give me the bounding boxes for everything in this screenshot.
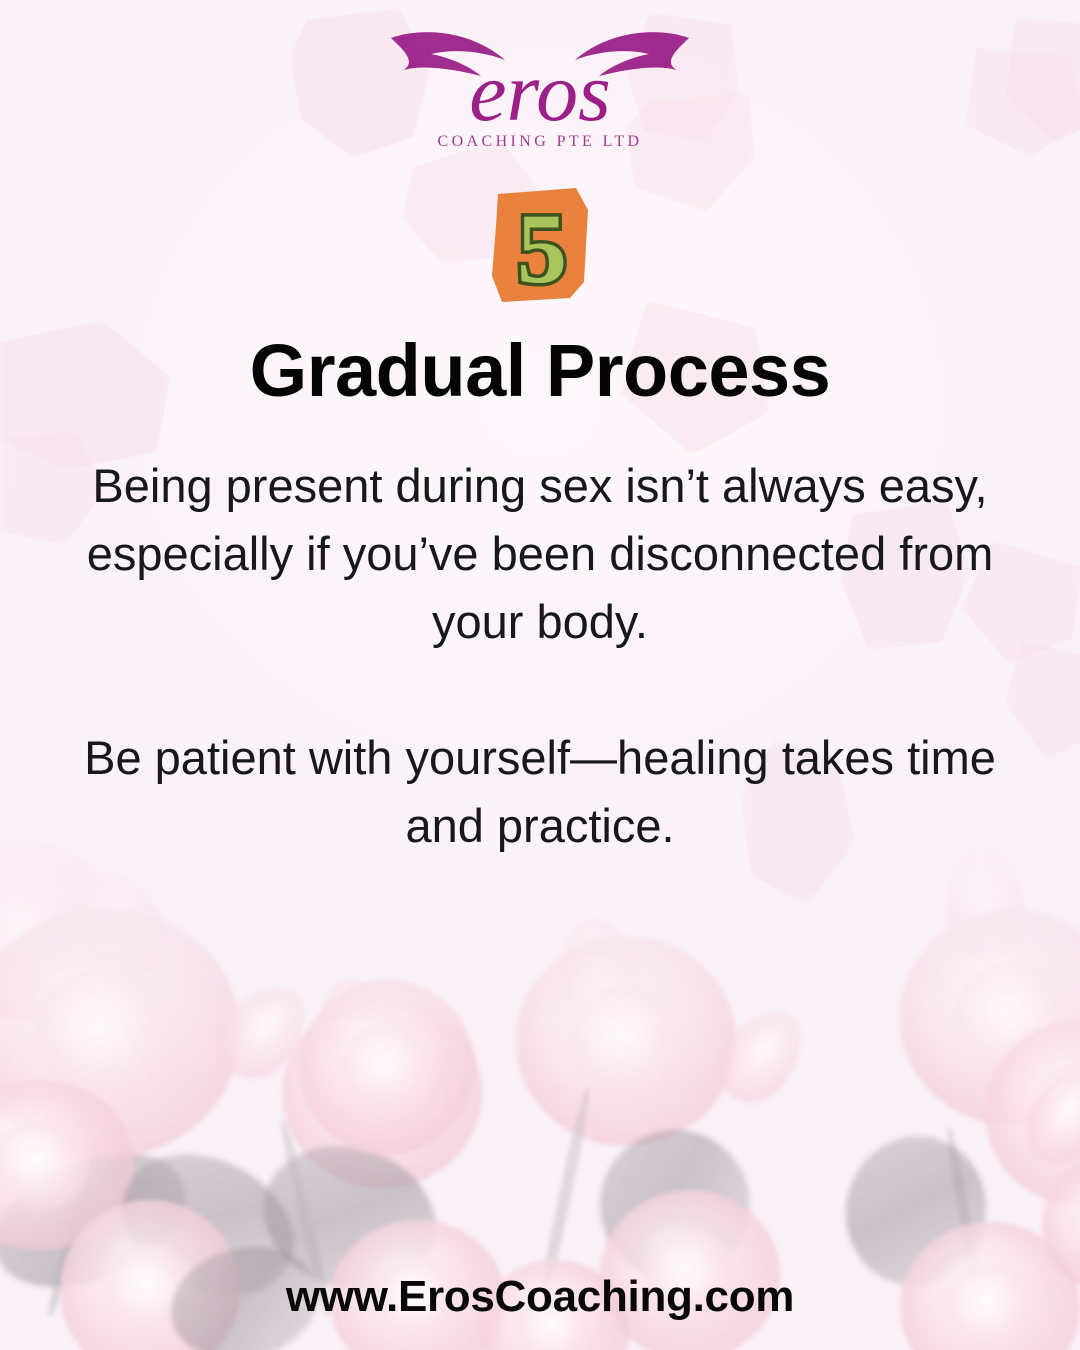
paragraph-spacer xyxy=(58,656,1022,724)
svg-text:5: 5 xyxy=(517,193,567,304)
eros-winged-logo-icon: eros COACHING PTE LTD xyxy=(385,16,695,156)
page-title: Gradual Process xyxy=(0,332,1080,410)
step-number-badge: 5 xyxy=(484,186,596,304)
body-paragraph-1: Being present during sex isn’t always ea… xyxy=(58,452,1022,656)
poster-content: eros COACHING PTE LTD 5 Gradual Process … xyxy=(0,0,1080,1350)
body-copy: Being present during sex isn’t always ea… xyxy=(58,452,1022,860)
body-paragraph-2: Be patient with yourself—healing takes t… xyxy=(58,724,1022,860)
svg-text:eros: eros xyxy=(469,46,611,139)
website-url[interactable]: www.ErosCoaching.com xyxy=(0,1272,1080,1322)
svg-text:COACHING PTE LTD: COACHING PTE LTD xyxy=(438,133,643,150)
